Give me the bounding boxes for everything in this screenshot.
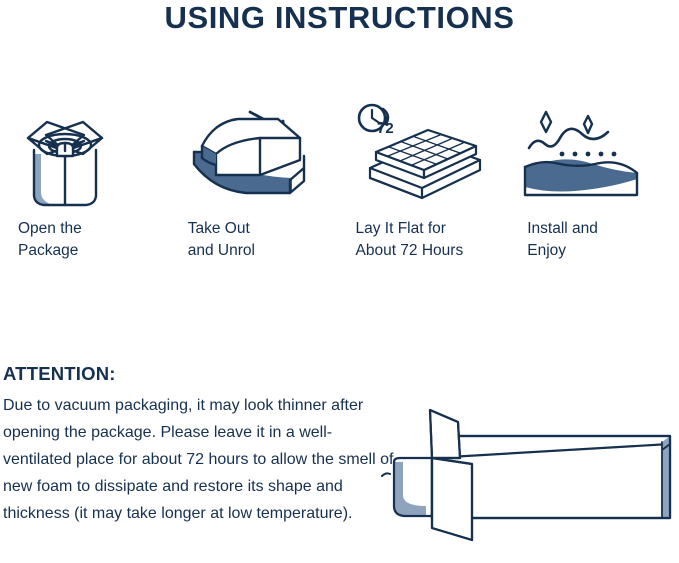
step-install-and-enjoy: Install and Enjoy <box>509 92 679 272</box>
attention-heading: ATTENTION: <box>3 363 116 385</box>
step-label: Take Out and Unrol <box>188 218 348 262</box>
step-open-the-package: Open the Package <box>0 92 170 272</box>
long-open-carton-with-mattress-icon <box>380 400 679 563</box>
page-title: USING INSTRUCTIONS <box>0 0 679 36</box>
steps-row: Open the Package <box>0 92 679 272</box>
step-take-out-and-unrol: Take Out and Unrol <box>170 92 340 272</box>
flat-quilted-mattress-with-72-hour-clock-icon: 72 <box>350 92 500 207</box>
step-label: Install and Enjoy <box>527 218 679 262</box>
svg-text:72: 72 <box>377 120 394 137</box>
step-label: Open the Package <box>18 218 178 262</box>
open-box-with-rolled-mattress-icon <box>10 92 160 207</box>
step-label: Lay It Flat for About 72 Hours <box>356 218 516 262</box>
unrolling-mattress-with-arrow-icon <box>180 92 330 207</box>
attention-body: Due to vacuum packaging, it may look thi… <box>3 392 395 527</box>
step-lay-it-flat: 72 Lay It Flat for Ab <box>340 92 510 272</box>
fresh-mattress-with-sparkles-icon <box>519 92 669 207</box>
